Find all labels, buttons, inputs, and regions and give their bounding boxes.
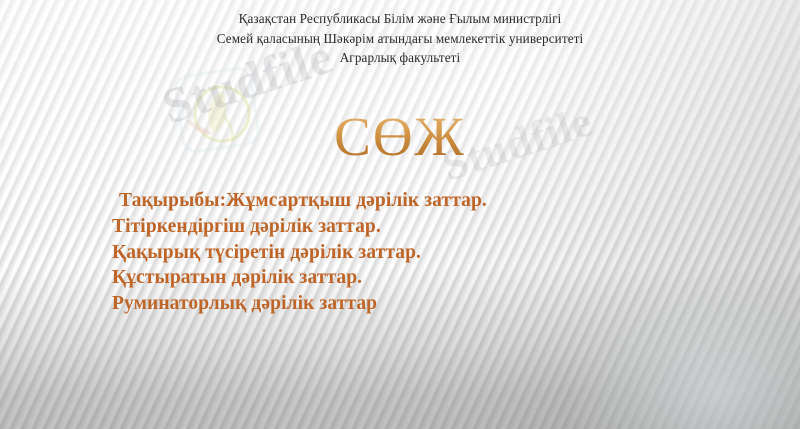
header-line-faculty: Аграрлық факультеті (0, 48, 800, 68)
slide-title: СӨЖ (0, 108, 800, 166)
topic-line-expectorant: Қақырық түсіретін дәрілік заттар. (112, 240, 712, 266)
header-line-university: Семей қаласының Шәкәрім атындағы мемлеке… (0, 29, 800, 49)
topic-list: Тақырыбы:Жұмсартқыш дәрілік заттар. Тіті… (112, 188, 712, 317)
topic-line-irritant: Тітіркендіргіш дәрілік заттар. (112, 214, 712, 240)
topic-line-subject: Тақырыбы:Жұмсартқыш дәрілік заттар. (112, 188, 712, 214)
topic-line-emetic: Құстыратын дәрілік заттар. (112, 265, 712, 291)
topic-line-ruminator: Руминаторлық дәрілік заттар (112, 291, 712, 317)
presentation-slide: Studfile Studfile Қазақстан Республикасы… (0, 0, 800, 429)
slide-header: Қазақстан Республикасы Білім және Ғылым … (0, 9, 800, 68)
header-line-ministry: Қазақстан Республикасы Білім және Ғылым … (0, 9, 800, 29)
